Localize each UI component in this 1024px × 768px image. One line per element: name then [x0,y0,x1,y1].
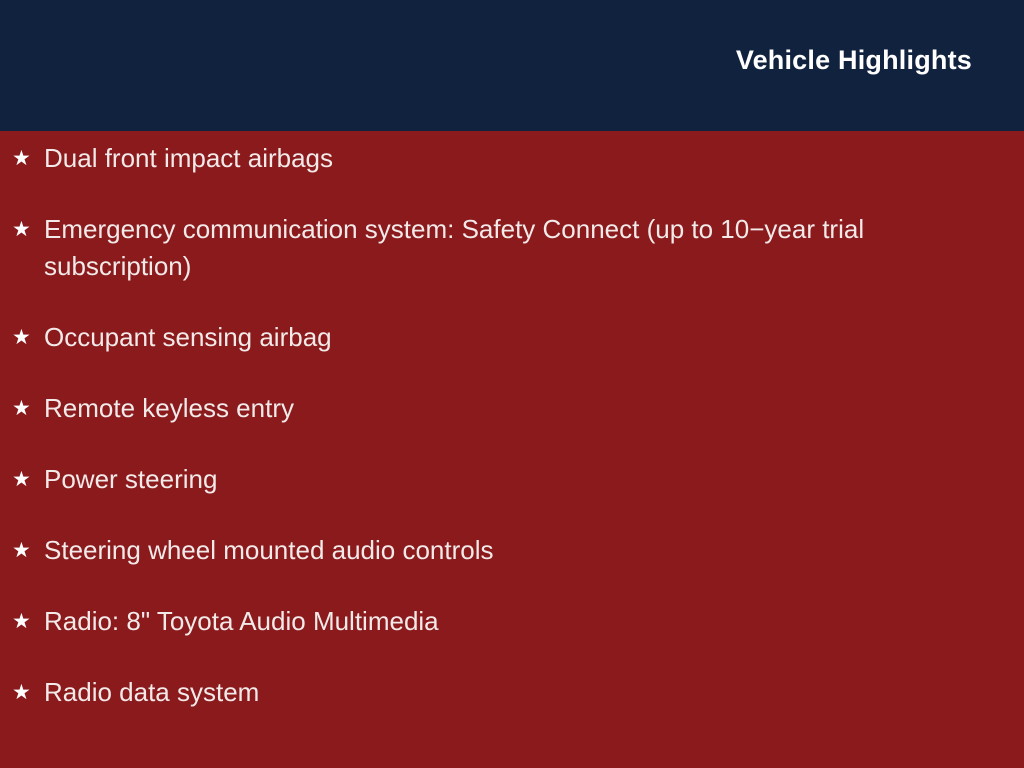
star-bullet-icon: ★ [12,532,34,569]
list-item-label: Remote keyless entry [44,390,956,427]
star-bullet-icon: ★ [12,461,34,498]
star-bullet-icon: ★ [12,211,34,248]
list-item-label: Radio: 8" Toyota Audio Multimedia [44,603,956,640]
star-bullet-icon: ★ [12,140,34,177]
list-item: ★ Remote keyless entry [12,390,1002,427]
highlights-body: ★ Dual front impact airbags ★ Emergency … [0,131,1024,768]
list-item: ★ Emergency communication system: Safety… [12,211,1002,285]
list-item-label: Steering wheel mounted audio controls [44,532,956,569]
list-item: ★ Occupant sensing airbag [12,319,1002,356]
list-item-label: Power steering [44,461,956,498]
list-item: ★ Power steering [12,461,1002,498]
star-bullet-icon: ★ [12,674,34,711]
star-bullet-icon: ★ [12,390,34,427]
list-item: ★ Radio: 8" Toyota Audio Multimedia [12,603,1002,640]
list-item-label: Radio data system [44,674,956,711]
header-band: Vehicle Highlights [0,0,1024,131]
vehicle-highlights-slide: Vehicle Highlights ★ Dual front impact a… [0,0,1024,768]
list-item: ★ Radio data system [12,674,1002,711]
vehicle-highlights-list: ★ Dual front impact airbags ★ Emergency … [12,140,1002,711]
list-item: ★ Dual front impact airbags [12,140,1002,177]
list-item-label: Emergency communication system: Safety C… [44,211,956,285]
list-item: ★ Steering wheel mounted audio controls [12,532,1002,569]
star-bullet-icon: ★ [12,319,34,356]
star-bullet-icon: ★ [12,603,34,640]
page-title: Vehicle Highlights [736,46,972,76]
list-item-label: Dual front impact airbags [44,140,956,177]
list-item-label: Occupant sensing airbag [44,319,956,356]
